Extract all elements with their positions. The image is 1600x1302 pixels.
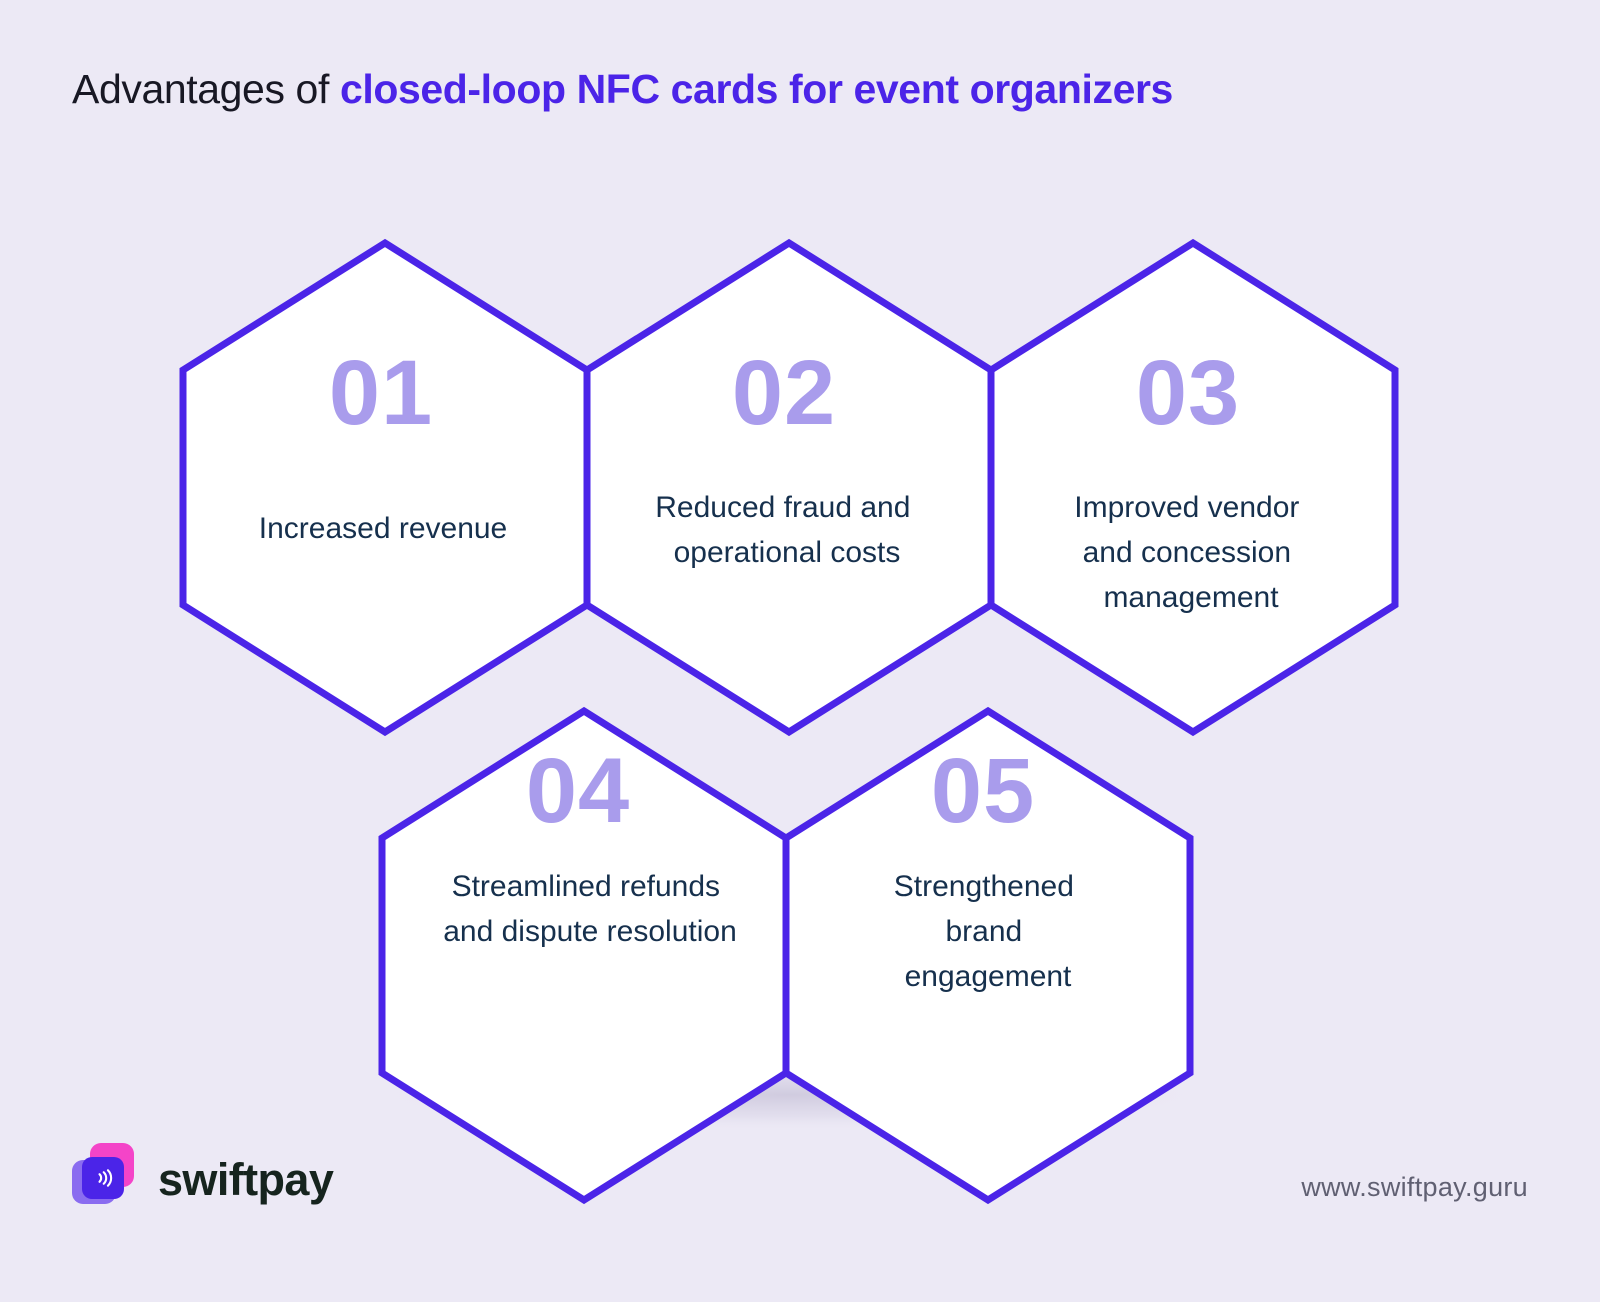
hexagon-02-label-line-1: Reduced fraud and	[655, 491, 910, 524]
hexagon-01-label: Increased revenue	[259, 512, 508, 545]
hexagon-05-label-line-1: Strengthened	[894, 870, 1074, 903]
hexagon-03-label-line-3: management	[1103, 581, 1279, 614]
logo-core-square	[82, 1157, 124, 1199]
hexagon-02-label-line-2: operational costs	[674, 536, 901, 569]
hexagon-04-label-line-2: and dispute resolution	[443, 915, 737, 948]
hexagon-03-label: Improved vendor and concession managemen…	[1074, 491, 1307, 614]
hexagon-04-label-line-1: Streamlined refunds	[452, 870, 720, 903]
hexagon-02[interactable]: 02 Reduced fraud and operational costs	[587, 243, 991, 732]
hexagon-04-number: 04	[526, 740, 630, 842]
hexagon-03-number: 03	[1136, 342, 1240, 444]
hexagon-diagram: 04 Streamlined refunds and dispute resol…	[0, 0, 1600, 1302]
logo-mark	[72, 1143, 138, 1215]
brand-logo[interactable]: swiftpay	[72, 1143, 333, 1215]
hexagon-02-shape	[587, 243, 991, 732]
nfc-wave-icon	[90, 1165, 116, 1191]
hexagon-03-shape	[991, 243, 1395, 732]
site-url: www.swiftpay.guru	[1301, 1172, 1528, 1203]
hexagon-01-label-line-1: Increased revenue	[259, 512, 508, 545]
hexagon-03-label-line-2: and concession	[1083, 536, 1291, 569]
hexagon-01-number: 01	[329, 342, 433, 444]
hexagon-05-label-line-3: engagement	[905, 960, 1072, 993]
hexagon-02-number: 02	[732, 342, 836, 444]
hexagon-05-label-line-2: brand	[945, 915, 1022, 948]
hexagon-05-number: 05	[931, 740, 1035, 842]
brand-name: swiftpay	[158, 1157, 333, 1202]
hexagon-01[interactable]: 01 Increased revenue	[183, 243, 587, 732]
hexagon-03-label-line-1: Improved vendor	[1074, 491, 1299, 524]
hexagon-01-shape	[183, 243, 587, 732]
hexagon-03[interactable]: 03 Improved vendor and concession manage…	[991, 243, 1395, 732]
